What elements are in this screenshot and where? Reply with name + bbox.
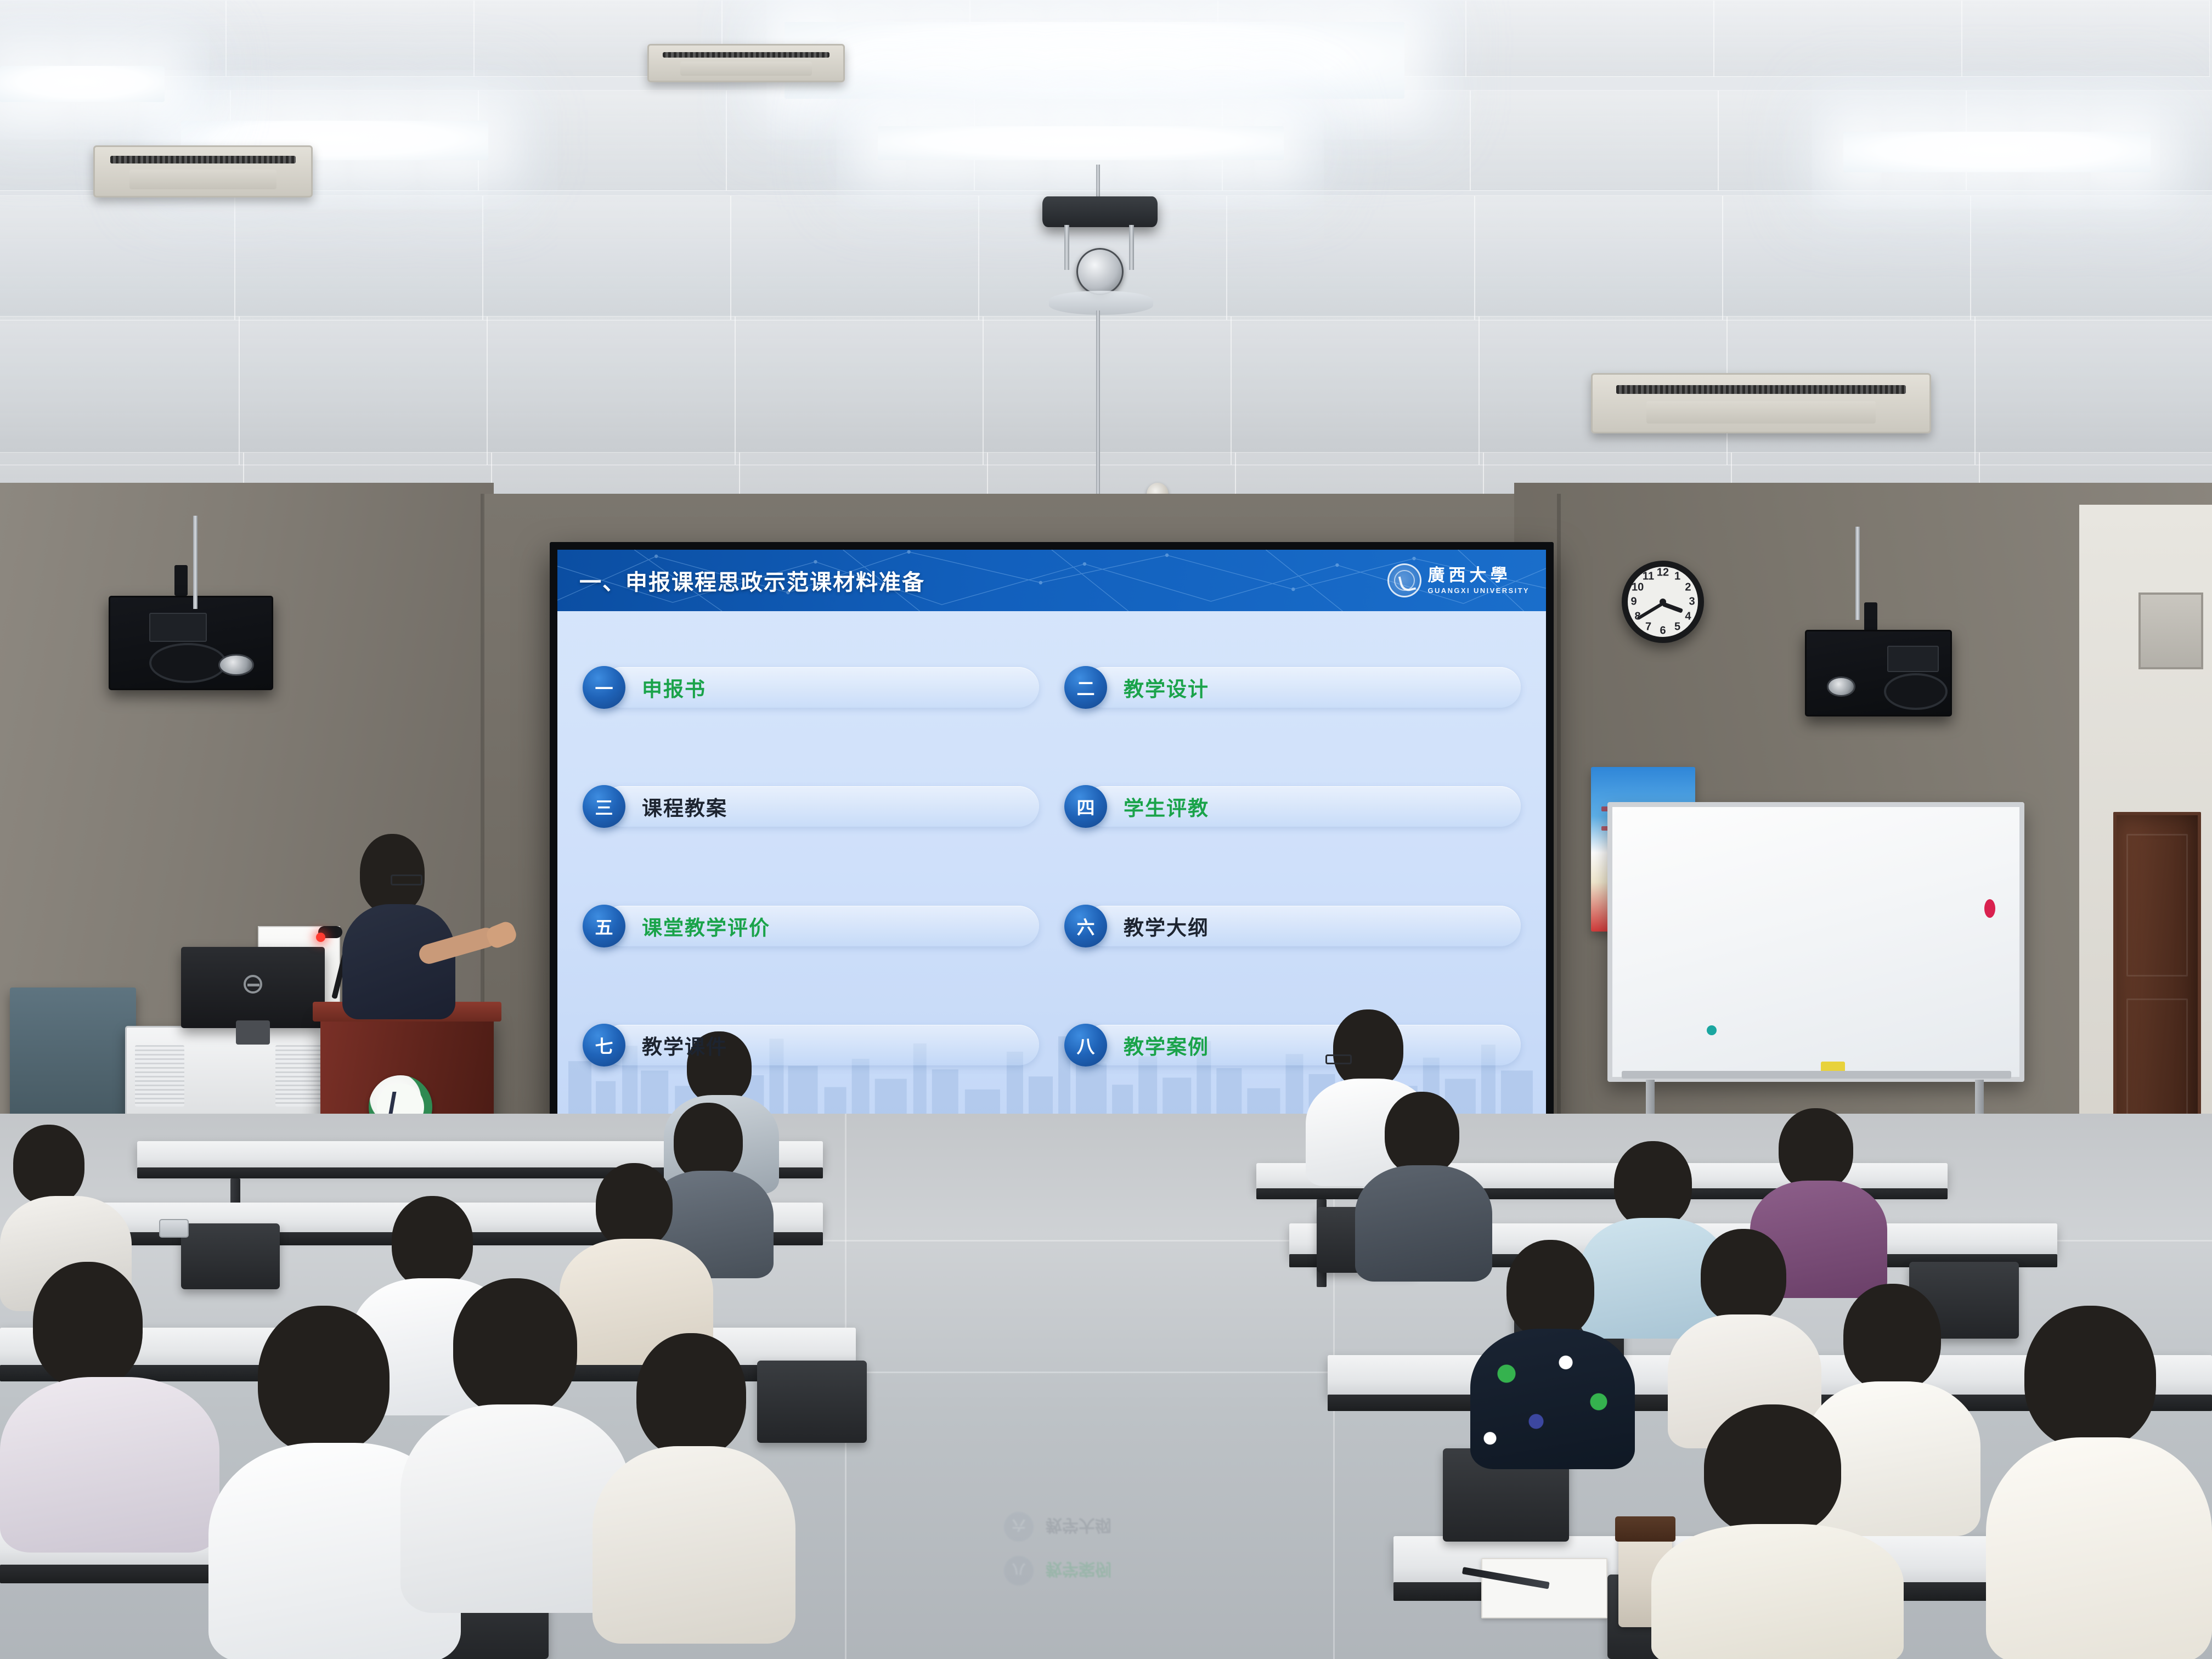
attendee-right-9 <box>1986 1306 2212 1659</box>
wall-clock: 121234567891011 <box>1622 561 1704 643</box>
clock-numeral: 2 <box>1685 581 1691 594</box>
university-emblem-icon <box>1387 563 1421 597</box>
attendee-head <box>453 1278 577 1415</box>
clock-numeral: 4 <box>1685 610 1691 623</box>
ceiling-tile <box>226 0 474 77</box>
wall-niche <box>2138 592 2203 669</box>
ceiling-tile <box>1714 0 1962 77</box>
attendee-torso <box>1986 1437 2212 1659</box>
ceiling-tile <box>1475 195 1723 320</box>
presenter-glasses-icon <box>391 874 422 885</box>
ceiling-tile <box>1975 316 2212 465</box>
projector-arm-right <box>1129 225 1134 270</box>
microphone-led-icon <box>316 933 325 942</box>
monitor-stand <box>236 1020 270 1045</box>
mic-drop-rail-left <box>193 516 198 609</box>
slide-item-number: 五 <box>583 905 625 947</box>
slide-item: 八教学案例 <box>1064 990 1521 1101</box>
slide-item-label: 课堂教学评价 <box>642 911 770 941</box>
projector-mount-plate <box>1049 291 1153 315</box>
slide-item: 六教学大纲 <box>1064 871 1521 981</box>
slide-item-label: 课程教案 <box>642 792 727 821</box>
whiteboard-magnet-teal[interactable] <box>1707 1025 1717 1035</box>
attendee-right-8 <box>1651 1404 1904 1659</box>
clock-numeral: 5 <box>1674 620 1680 633</box>
ceiling-light-3 <box>878 126 1284 160</box>
clock-numeral: 12 <box>1657 567 1669 579</box>
slide-item-label: 申报书 <box>642 673 706 702</box>
ceiling-tile <box>0 316 239 465</box>
console-grille-right <box>275 1045 325 1107</box>
door-panel-upper <box>2126 834 2188 977</box>
speaker-mount-left <box>174 565 188 596</box>
slide-item-number: 六 <box>1064 905 1107 947</box>
ceiling-light-1 <box>785 22 1404 99</box>
reflection-label: 教学大纲 <box>1046 1515 1111 1539</box>
speaker-tweeter-right <box>1827 676 1855 696</box>
phone-on-desk[interactable] <box>159 1219 189 1238</box>
ac-vent-1 <box>93 145 313 198</box>
reflection-badge: 六 <box>1004 1512 1034 1542</box>
whiteboard-surface[interactable] <box>1612 807 2019 1077</box>
clock-numeral: 3 <box>1689 596 1695 608</box>
reflection-label: 教学案例 <box>1046 1559 1111 1583</box>
reflection-badge: 八 <box>1004 1556 1034 1585</box>
speaker-right <box>1805 630 1952 716</box>
teacher-console[interactable] <box>125 1026 335 1126</box>
ceiling-tile <box>487 316 735 465</box>
presenter-head <box>360 834 425 914</box>
slide-item: 三课程教案 <box>583 752 1039 862</box>
ceiling-light-5 <box>0 66 165 102</box>
attendee-head <box>636 1333 746 1457</box>
ceiling-light-4 <box>1843 132 2151 172</box>
clock-numeral: 8 <box>1635 610 1641 623</box>
ceiling-tile <box>483 195 731 320</box>
ceiling-tile <box>478 90 726 191</box>
projector-lens <box>1076 248 1124 295</box>
projector-arm-left <box>1064 225 1069 270</box>
slide-item-number: 八 <box>1064 1024 1107 1066</box>
speaker-port-right <box>1887 646 1939 673</box>
attendee-head <box>392 1196 473 1288</box>
ac-vent-2 <box>1591 373 1931 433</box>
attendee-right-5 <box>1470 1240 1635 1459</box>
slide-item-number: 三 <box>583 785 625 828</box>
university-name-en: GUANGXI UNIVERSITY <box>1428 587 1530 594</box>
university-name-cn: 廣西大學 <box>1428 567 1530 584</box>
ceiling-tile <box>983 316 1231 465</box>
clock-numeral: 9 <box>1630 596 1637 608</box>
ac-vent-3 <box>647 44 845 82</box>
ceiling-tile <box>239 316 487 465</box>
slide-item-number: 四 <box>1064 785 1107 828</box>
university-logo: 廣西大學 GUANGXI UNIVERSITY <box>1387 563 1530 597</box>
attendee-head <box>1333 1009 1403 1088</box>
attendee-head <box>13 1125 84 1205</box>
slide-title: 一、申报课程思政示范课材料准备 <box>579 565 925 596</box>
slide-item-label: 教学案例 <box>1124 1030 1209 1060</box>
speaker-mount-right <box>1864 602 1877 631</box>
attendee-head <box>1779 1108 1853 1190</box>
whiteboard-tray <box>1622 1071 2011 1079</box>
slide-item-number: 七 <box>583 1024 625 1066</box>
attendee-head <box>1704 1404 1841 1536</box>
slide-item-number: 二 <box>1064 666 1107 709</box>
ceiling-tile <box>0 195 235 320</box>
slide-item: 一申报书 <box>583 632 1039 743</box>
speaker-port-left <box>149 613 207 642</box>
ceiling-tile <box>235 195 483 320</box>
attendee-head <box>1614 1141 1692 1228</box>
speaker-tweeter-left <box>218 654 254 676</box>
attendee-head <box>258 1306 390 1454</box>
ceiling-tile <box>1723 195 1971 320</box>
attendee-left-6 <box>0 1262 219 1536</box>
attendee-torso <box>0 1377 219 1553</box>
ceiling-tile <box>1470 90 1718 191</box>
ceiling-tile <box>1971 195 2212 320</box>
ceiling-tile <box>1466 0 1714 77</box>
attendee-head <box>596 1163 673 1249</box>
attendee-head <box>1385 1092 1459 1175</box>
slide-item-number: 一 <box>583 666 625 709</box>
speaker-woofer-right <box>1884 673 1947 710</box>
attendee-head <box>2024 1306 2156 1448</box>
slide-item: 四学生评教 <box>1064 752 1521 862</box>
clock-numeral: 11 <box>1643 571 1654 583</box>
dell-monitor <box>181 947 325 1028</box>
ceiling-tile <box>731 195 979 320</box>
attendee-glasses-icon <box>1325 1054 1352 1064</box>
clock-numeral: 10 <box>1632 581 1644 594</box>
clock-numeral: 7 <box>1645 620 1651 633</box>
slide-item-label: 教学课件 <box>642 1030 727 1060</box>
clock-numeral: 1 <box>1674 571 1680 583</box>
attendee-torso <box>1470 1329 1635 1469</box>
slide-item: 二教学设计 <box>1064 632 1521 743</box>
clock-numeral: 6 <box>1660 625 1666 637</box>
console-grille-left <box>135 1045 184 1107</box>
slide-item-label: 学生评教 <box>1124 792 1209 821</box>
presenter-torso <box>342 904 455 1019</box>
whiteboard[interactable] <box>1607 802 2024 1082</box>
slide-item: 五课堂教学评价 <box>583 871 1039 981</box>
ceiling-tile <box>0 0 226 77</box>
mic-drop-rail-right <box>1855 527 1860 620</box>
classroom-scene: 121234567891011 <box>0 0 2212 1659</box>
attendee-head <box>33 1262 143 1388</box>
wall-seam-right <box>1557 494 1561 1147</box>
attendee-head <box>1843 1284 1941 1391</box>
clock-center-pin <box>1660 599 1666 605</box>
attendee-left-9 <box>592 1333 795 1640</box>
slide-item: 七教学课件 <box>583 990 1039 1101</box>
slide-item-label: 教学设计 <box>1124 673 1209 702</box>
attendee-torso <box>592 1446 795 1644</box>
projector-rod <box>1096 165 1100 199</box>
ceiling-tile <box>1227 195 1475 320</box>
slide-floor-reflection: 八教学案例六教学大纲 <box>1004 1404 1333 1585</box>
speaker-left <box>109 596 273 690</box>
whiteboard-magnet-red[interactable] <box>1984 899 1995 918</box>
slide-item-label: 教学大纲 <box>1124 911 1209 941</box>
reflection-row: 六教学大纲 <box>1004 1512 1333 1542</box>
attendee-head <box>1506 1240 1594 1339</box>
speaker-woofer-left <box>149 643 227 683</box>
ceiling-camera <box>1042 196 1158 227</box>
slide-header: 一、申报课程思政示范课材料准备 廣西大學 GUANGXI UNIVERSITY <box>557 550 1546 611</box>
reflection-row: 八教学案例 <box>1004 1556 1333 1585</box>
ceiling-tile <box>1231 316 1479 465</box>
dell-logo-icon <box>244 975 262 994</box>
attendee-torso <box>1651 1524 1904 1659</box>
presenter <box>336 834 478 1015</box>
attendee-head <box>1701 1229 1786 1323</box>
ceiling-tile <box>1962 0 2210 77</box>
ceiling-tile <box>735 316 983 465</box>
